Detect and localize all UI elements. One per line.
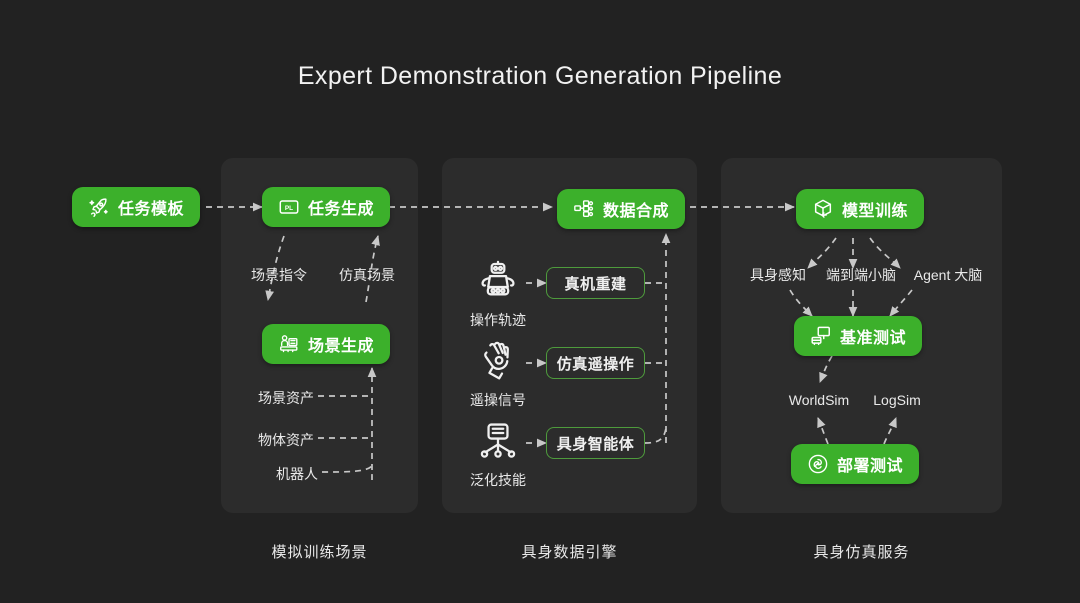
- node-label: 数据合成: [603, 197, 669, 221]
- node-deployment-test[interactable]: 部署测试: [791, 444, 919, 484]
- rocket-icon: [88, 196, 110, 218]
- node-benchmark-test[interactable]: 基准测试: [794, 316, 922, 356]
- caption-embodied-data-engine: 具身数据引擎: [442, 541, 697, 562]
- node-label: 基准测试: [840, 324, 906, 348]
- glove-icon: [477, 340, 519, 382]
- cube-arrow-icon: [812, 198, 834, 220]
- middle-label-agent-brain: Agent 大脑: [914, 265, 982, 285]
- node-task-template[interactable]: 任务模板: [72, 187, 200, 227]
- middle-label-embodied-perception: 具身感知: [750, 265, 806, 285]
- caption-embodied-simulation-service: 具身仿真服务: [721, 541, 1002, 562]
- source-label-generalized-skill: 泛化技能: [470, 470, 526, 490]
- input-label-scene-asset: 场景资产: [258, 388, 314, 408]
- robot-icon: [477, 260, 519, 302]
- box-label: 具身智能体: [557, 433, 635, 454]
- page-title: Expert Demonstration Generation Pipeline: [0, 62, 1080, 91]
- box-simulated-teleoperation[interactable]: 仿真遥操作: [546, 347, 645, 379]
- box-real-machine-reconstruction[interactable]: 真机重建: [546, 267, 645, 299]
- diagram-canvas: Expert Demonstration Generation Pipeline: [0, 0, 1080, 603]
- input-label-object-asset: 物体资产: [258, 430, 314, 450]
- node-label: 任务生成: [308, 195, 374, 219]
- node-label: 场景生成: [308, 332, 374, 356]
- node-model-training[interactable]: 模型训练: [796, 189, 924, 229]
- scene-robot-icon: [278, 333, 300, 355]
- input-label-robot: 机器人: [276, 464, 318, 484]
- source-label-operation-trajectory: 操作轨迹: [470, 310, 526, 330]
- node-label: 模型训练: [842, 197, 908, 221]
- node-label: 任务模板: [118, 195, 184, 219]
- skill-network-icon: [477, 420, 519, 462]
- data-merge-icon: [573, 198, 595, 220]
- node-data-synthesis[interactable]: 数据合成: [557, 189, 685, 229]
- box-label: 仿真遥操作: [557, 353, 635, 374]
- node-task-generation[interactable]: PL 任务生成: [262, 187, 390, 227]
- edge-label-simulated-scene: 仿真场景: [339, 265, 395, 285]
- swirl-circle-icon: [807, 453, 829, 475]
- node-label: 部署测试: [837, 452, 903, 476]
- middle-label-end-to-end-cerebellum: 端到端小脑: [826, 265, 896, 285]
- lower-label-logsim: LogSim: [873, 392, 920, 408]
- box-embodied-agent[interactable]: 具身智能体: [546, 427, 645, 459]
- caption-simulation-training-scene: 模拟训练场景: [221, 541, 418, 562]
- box-label: 真机重建: [564, 273, 626, 294]
- node-scene-generation[interactable]: 场景生成: [262, 324, 390, 364]
- edge-label-scene-instruction: 场景指令: [251, 265, 307, 285]
- source-label-teleop-signal: 遥操信号: [470, 390, 526, 410]
- monitor-icon: [810, 325, 832, 347]
- lower-label-worldsim: WorldSim: [789, 392, 849, 408]
- svg-text:PL: PL: [285, 205, 293, 212]
- pl-frame-icon: PL: [278, 196, 300, 218]
